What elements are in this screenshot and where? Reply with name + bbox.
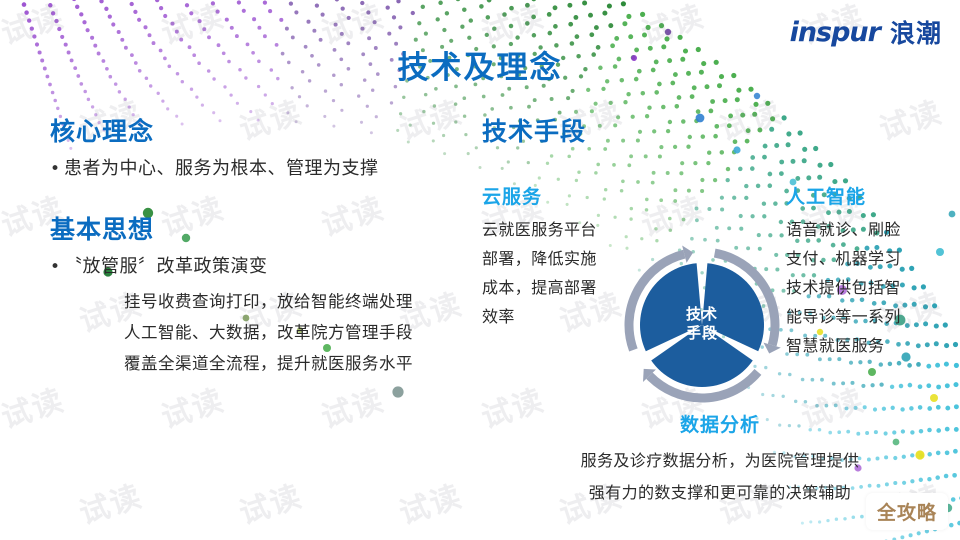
watermark-text: 试读 [155, 375, 229, 437]
bullet-glyph-icon: • [50, 252, 64, 282]
node-line: 成本，提高部署 [482, 273, 632, 302]
watermark-text: 试读 [233, 471, 307, 533]
slide-canvas: 试读试读试读试读试读试读试读试读试读试读试读试读试读试读试读试读试读试读试读试读… [0, 0, 960, 540]
section-spacer [50, 188, 470, 210]
watermark-text: 试读 [315, 375, 389, 437]
left-content-column: 核心理念 • 患者为中心、服务为根本、管理为支撑 基本思想 • 〝放管服〞改革政… [50, 112, 470, 379]
bullet-item-core-concept: • 患者为中心、服务为根本、管理为支撑 [50, 154, 470, 184]
section-heading-tech-means: 技术手段 [482, 112, 586, 148]
node-body-artificial-intelligence: 语音就诊、刷脸 支付、机器学习 技术提供包括智 能导诊等一系列 智慧就医服务 [786, 215, 946, 360]
circle-diagram-graphic [620, 243, 784, 407]
bullet-text-core-concept: 患者为中心、服务为根本、管理为支撑 [64, 154, 379, 184]
bullet-glyph-icon: • [50, 154, 64, 184]
sub-line: 覆盖全渠道全流程，提升就医服务水平 [124, 348, 470, 379]
watermark-text: 试读 [713, 87, 787, 149]
watermark-text: 试读 [73, 471, 147, 533]
node-line: 云就医服务平台 [482, 215, 632, 244]
node-data-analysis: 数据分析 服务及诊疗数据分析，为医院管理提供 强有力的数支撑和更可靠的决策辅助 [520, 410, 920, 509]
node-line: 智慧就医服务 [786, 331, 946, 360]
node-line: 支付、机器学习 [786, 244, 946, 273]
bullet-text-basic-idea: 〝放管服〞改革政策演变 [64, 252, 268, 282]
node-heading-artificial-intelligence: 人工智能 [786, 182, 946, 209]
section-heading-basic-idea: 基本思想 [50, 210, 470, 246]
watermark-text: 试读 [873, 87, 947, 149]
node-heading-cloud-service: 云服务 [482, 182, 632, 209]
bullet-item-basic-idea: • 〝放管服〞改革政策演变 [50, 252, 470, 282]
sub-line: 人工智能、大数据，改革院方管理手段 [124, 317, 470, 348]
node-line: 部署，降低实施 [482, 244, 632, 273]
node-line: 服务及诊疗数据分析，为医院管理提供 [520, 445, 920, 477]
node-line: 效率 [482, 302, 632, 331]
watermark-text: 试读 [955, 183, 960, 245]
inspur-logo: inspur 浪潮 [790, 14, 942, 50]
node-line: 能导诊等一系列 [786, 302, 946, 331]
watermark-text: 试读 [635, 183, 709, 245]
node-line: 技术提供包括智 [786, 273, 946, 302]
node-body-cloud-service: 云就医服务平台 部署，降低实施 成本，提高部署 效率 [482, 215, 632, 331]
node-heading-data-analysis: 数据分析 [520, 410, 920, 437]
node-cloud-service: 云服务 云就医服务平台 部署，降低实施 成本，提高部署 效率 [482, 182, 632, 331]
watermark-badge: 全攻略 [866, 493, 948, 530]
node-artificial-intelligence: 人工智能 语音就诊、刷脸 支付、机器学习 技术提供包括智 能导诊等一系列 智慧就… [786, 182, 946, 360]
watermark-text: 试读 [393, 471, 467, 533]
watermark-text: 试读 [0, 375, 69, 437]
node-body-data-analysis: 服务及诊疗数据分析，为医院管理提供 强有力的数支撑和更可靠的决策辅助 [520, 445, 920, 509]
watermark-text: 试读 [955, 375, 960, 437]
logo-chinese-name: 浪潮 [890, 14, 942, 50]
logo-wordmark: inspur [790, 17, 880, 48]
three-segment-circle-diagram: 技术手段 [620, 243, 784, 407]
node-line: 语音就诊、刷脸 [786, 215, 946, 244]
sub-line: 挂号收费查询打印，放给智能终端处理 [124, 286, 470, 317]
node-line: 强有力的数支撑和更可靠的决策辅助 [520, 477, 920, 509]
section-heading-core-concept: 核心理念 [50, 112, 470, 148]
